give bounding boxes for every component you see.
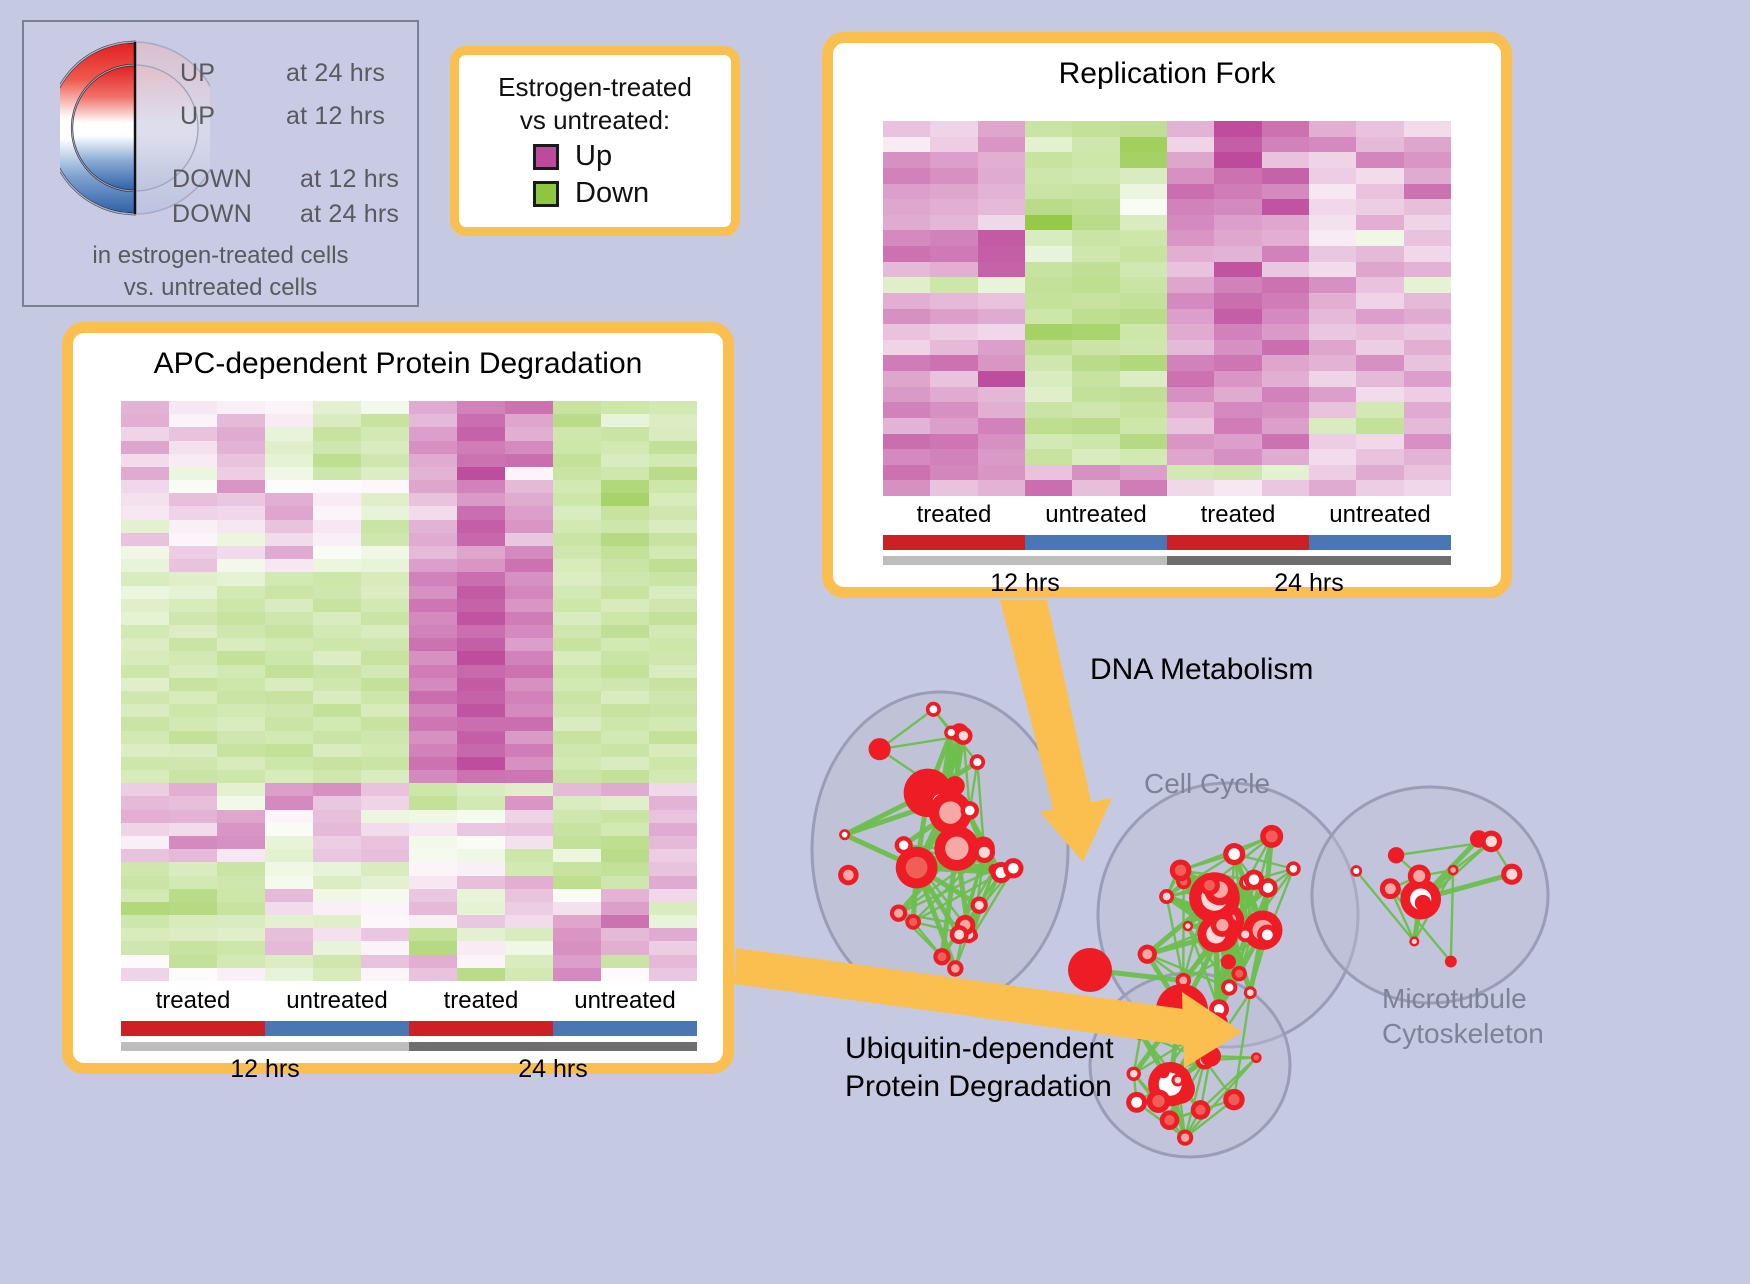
- heatmap-cell: [1262, 168, 1309, 184]
- heatmap-cell: [1167, 418, 1214, 434]
- heatmap-cell: [265, 651, 313, 664]
- heatmap-cell: [1214, 277, 1261, 293]
- network-node[interactable]: [971, 897, 988, 914]
- heatmap-cell: [217, 836, 265, 849]
- network-node[interactable]: [1244, 986, 1257, 999]
- network-node[interactable]: [1260, 825, 1283, 848]
- heatmap-cell: [361, 625, 409, 638]
- heatmap-cell: [265, 941, 313, 954]
- network-node[interactable]: [1068, 948, 1112, 992]
- heatmap-cell: [265, 480, 313, 493]
- heatmap-cell: [649, 717, 697, 730]
- heatmap-cell: [930, 324, 977, 340]
- heatmap-cell: [1120, 277, 1167, 293]
- heatmap-cell: [930, 465, 977, 481]
- heatmap-cell: [1167, 449, 1214, 465]
- heatmap-cell: [265, 454, 313, 467]
- heatmap-cell: [978, 309, 1025, 325]
- heatmap-cell: [1356, 418, 1403, 434]
- heatmap-cell: [409, 612, 457, 625]
- heatmap-cell: [553, 506, 601, 519]
- heatmap-cell: [361, 467, 409, 480]
- heatmap-cell: [1404, 418, 1451, 434]
- heatmap-cell: [505, 467, 553, 480]
- heatmap-cell: [1072, 215, 1119, 231]
- heatmap-cell: [169, 480, 217, 493]
- heatmap-cell: [930, 262, 977, 278]
- heatmap-cell: [1167, 137, 1214, 153]
- heatmap-cell: [361, 744, 409, 757]
- heatmap-cell: [1404, 402, 1451, 418]
- network-node[interactable]: [838, 865, 859, 886]
- heatmap-cell: [409, 665, 457, 678]
- heatmap-cell: [217, 862, 265, 875]
- heatmap-cell: [121, 638, 169, 651]
- heatmap-cell: [505, 823, 553, 836]
- heatmap-cell: [1356, 465, 1403, 481]
- heatmap-cell: [217, 941, 265, 954]
- heatmap-cell: [505, 770, 553, 783]
- heatmap-cell: [601, 533, 649, 546]
- heatmap-cell: [217, 955, 265, 968]
- heatmap-cell: [978, 277, 1025, 293]
- heatmap-cell: [361, 638, 409, 651]
- heatmap-cell: [978, 355, 1025, 371]
- heatmap-cell: [217, 520, 265, 533]
- heatmap-cell: [121, 691, 169, 704]
- heatmap-cell: [313, 546, 361, 559]
- network-node[interactable]: [1244, 870, 1264, 890]
- heatmap-cell: [361, 612, 409, 625]
- heatmap-cell: [553, 625, 601, 638]
- heatmap-cell: [1072, 277, 1119, 293]
- network-node[interactable]: [905, 914, 921, 930]
- heatmap-cell: [553, 427, 601, 440]
- heatmap-cell: [505, 427, 553, 440]
- network-node[interactable]: [1003, 858, 1023, 878]
- heatmap-cell: [361, 796, 409, 809]
- heatmap-cell: [313, 625, 361, 638]
- heatmap-cell: [1167, 215, 1214, 231]
- network-node[interactable]: [1409, 936, 1419, 946]
- heatmap-cell: [601, 625, 649, 638]
- heatmap-cell: [265, 968, 313, 981]
- ring-time-up-12: at 12 hrs: [286, 102, 385, 131]
- heatmap-cell: [553, 665, 601, 678]
- heatmap-cell: [1309, 168, 1356, 184]
- heatmap-cell: [1120, 355, 1167, 371]
- network-node[interactable]: [1200, 1046, 1221, 1067]
- network-node[interactable]: [950, 925, 969, 944]
- heatmap-cell: [169, 493, 217, 506]
- treatment-bar-segment: [121, 1021, 265, 1036]
- heatmap-cell: [505, 876, 553, 889]
- network-node[interactable]: [839, 829, 850, 840]
- heatmap-cell: [930, 449, 977, 465]
- heatmap-cell: [409, 796, 457, 809]
- network-node[interactable]: [1448, 865, 1459, 876]
- heatmap-cell: [1309, 434, 1356, 450]
- heatmap-cell: [121, 506, 169, 519]
- heatmap-cell: [409, 731, 457, 744]
- heatmap-cell: [649, 480, 697, 493]
- heatmap-cell: [265, 810, 313, 823]
- network-node[interactable]: [1126, 1092, 1147, 1113]
- heatmap-cell: [409, 520, 457, 533]
- heatmap-cell: [265, 638, 313, 651]
- heatmap-cell: [883, 230, 930, 246]
- heatmap-cell: [1072, 418, 1119, 434]
- heatmap-cell: [553, 717, 601, 730]
- heatmap-cell: [553, 796, 601, 809]
- heatmap-cell: [505, 955, 553, 968]
- heatmap-cell: [649, 612, 697, 625]
- treatment-color-bar-apc: [121, 1021, 697, 1036]
- heatmap-cell: [1167, 387, 1214, 403]
- network-node[interactable]: [1171, 1074, 1184, 1087]
- heatmap-cell: [409, 836, 457, 849]
- heatmap-cell: [361, 717, 409, 730]
- network-node[interactable]: [1480, 831, 1502, 853]
- up-color-swatch: [533, 144, 559, 170]
- heatmap-cell: [217, 546, 265, 559]
- heatmap-cell: [1167, 340, 1214, 356]
- heatmap-cell: [1120, 418, 1167, 434]
- heatmap-cell: [457, 533, 505, 546]
- heatmap-cell: [121, 612, 169, 625]
- heatmap-cell: [1262, 387, 1309, 403]
- network-node[interactable]: [1286, 861, 1301, 876]
- heatmap-cell: [601, 968, 649, 981]
- heatmap-cell: [1214, 324, 1261, 340]
- heatmap-cell: [1214, 480, 1261, 496]
- heatmap-cell: [1356, 184, 1403, 200]
- heatmap-cell: [1072, 246, 1119, 262]
- heatmap-cell: [601, 572, 649, 585]
- heatmap-cell: [457, 586, 505, 599]
- heatmap-cell: [1404, 262, 1451, 278]
- heatmap-cell: [409, 599, 457, 612]
- heatmap-cell: [265, 744, 313, 757]
- heatmap-cell: [265, 546, 313, 559]
- network-node[interactable]: [1221, 979, 1237, 995]
- heatmap-cell: [1167, 309, 1214, 325]
- heatmap-cell: [649, 731, 697, 744]
- heatmap-cell: [1072, 324, 1119, 340]
- heatmap-cell: [1025, 137, 1072, 153]
- heatmap-cell: [121, 796, 169, 809]
- heatmap-cell: [1214, 215, 1261, 231]
- heatmap-cell: [553, 599, 601, 612]
- heatmap-cell: [409, 717, 457, 730]
- heatmap-cell: [169, 520, 217, 533]
- heatmap-cell: [169, 533, 217, 546]
- heatmap-cell: [649, 401, 697, 414]
- treatment-bar-segment: [1309, 535, 1451, 550]
- heatmap-cell: [553, 928, 601, 941]
- heatmap-cell: [169, 836, 217, 849]
- heatmap-cell: [1309, 293, 1356, 309]
- network-node[interactable]: [1147, 1089, 1171, 1113]
- heatmap-cell: [553, 678, 601, 691]
- heatmap-cell: [601, 599, 649, 612]
- ring-footer-line2: vs. untreated cells: [24, 272, 417, 304]
- heatmap-cell: [883, 199, 930, 215]
- heatmap-cell: [121, 559, 169, 572]
- network-node[interactable]: [945, 776, 965, 796]
- heatmap-cell: [313, 955, 361, 968]
- heatmap-cell: [169, 678, 217, 691]
- heatmap-cell: [1356, 230, 1403, 246]
- network-node[interactable]: [1251, 1052, 1262, 1063]
- heatmap-cell: [978, 293, 1025, 309]
- heatmap-cell: [505, 414, 553, 427]
- network-node[interactable]: [960, 801, 979, 820]
- heatmap-cell: [930, 402, 977, 418]
- ring-time-up-24: at 24 hrs: [286, 59, 385, 88]
- heatmap-cell: [1025, 152, 1072, 168]
- heatmap-replication-fork: [883, 121, 1451, 496]
- heatmap-cell: [1120, 199, 1167, 215]
- network-node[interactable]: [890, 904, 907, 921]
- heatmap-cell: [1025, 434, 1072, 450]
- heatmap-cell: [265, 572, 313, 585]
- heatmap-cell: [649, 704, 697, 717]
- heatmap-cell: [457, 612, 505, 625]
- heatmap-cell: [1167, 262, 1214, 278]
- network-node[interactable]: [1350, 865, 1362, 877]
- heatmap-cell: [1262, 277, 1309, 293]
- heatmap-cell: [883, 402, 930, 418]
- heatmap-cell: [1072, 480, 1119, 496]
- network-node[interactable]: [1206, 1012, 1228, 1034]
- network-node[interactable]: [1221, 954, 1236, 969]
- heatmap-cell: [1072, 184, 1119, 200]
- heatmap-cell: [1262, 402, 1309, 418]
- heatmap-cell: [601, 480, 649, 493]
- network-node[interactable]: [947, 960, 963, 976]
- heatmap-cell: [601, 401, 649, 414]
- network-node[interactable]: [1127, 1067, 1141, 1081]
- heatmap-cell: [505, 968, 553, 981]
- heatmap-cell: [169, 638, 217, 651]
- heatmap-cell: [409, 441, 457, 454]
- heatmap-cell: [1404, 199, 1451, 215]
- heatmap-cell: [265, 401, 313, 414]
- heatmap-cell: [409, 493, 457, 506]
- heatmap-cell: [1167, 355, 1214, 371]
- heatmap-cell: [1214, 230, 1261, 246]
- heatmap-cell: [457, 493, 505, 506]
- heatmap-cell: [265, 612, 313, 625]
- heatmap-cell: [1025, 199, 1072, 215]
- heatmap-cell: [930, 152, 977, 168]
- heatmap-cell: [601, 704, 649, 717]
- heatmap-cell: [217, 678, 265, 691]
- network-node[interactable]: [1158, 1067, 1169, 1078]
- network-node[interactable]: [926, 702, 941, 717]
- network-node[interactable]: [1257, 925, 1278, 946]
- heatmap-cell: [121, 493, 169, 506]
- heatmap-cell: [1025, 246, 1072, 262]
- heatmap-cell: [1262, 121, 1309, 137]
- heatmap-cell: [409, 480, 457, 493]
- heatmap-cell: [553, 414, 601, 427]
- heatmap-cell: [1025, 168, 1072, 184]
- network-node[interactable]: [1388, 847, 1404, 863]
- heatmap-cell: [930, 355, 977, 371]
- heatmap-cell: [457, 836, 505, 849]
- network-node[interactable]: [895, 836, 913, 854]
- network-node[interactable]: [1177, 1130, 1193, 1146]
- heatmap-cell: [1025, 402, 1072, 418]
- heatmap-cell: [313, 572, 361, 585]
- heatmap-cell: [169, 704, 217, 717]
- heatmap-cell: [978, 246, 1025, 262]
- network-node[interactable]: [1223, 843, 1245, 865]
- heatmap-cell: [361, 678, 409, 691]
- heatmap-cell: [553, 520, 601, 533]
- heatmap-cell: [457, 889, 505, 902]
- heatmap-cell: [978, 230, 1025, 246]
- heatmap-cell: [1309, 121, 1356, 137]
- network-node[interactable]: [1183, 921, 1193, 931]
- heatmap-cell: [601, 546, 649, 559]
- heatmap-cell: [1356, 246, 1403, 262]
- heatmap-cell: [1309, 371, 1356, 387]
- heatmap-cell: [601, 665, 649, 678]
- heatmap-cell: [265, 849, 313, 862]
- heatmap-cell: [505, 599, 553, 612]
- heatmap-cell: [313, 783, 361, 796]
- heatmap-cell: [553, 533, 601, 546]
- network-node[interactable]: [1191, 1100, 1211, 1120]
- heatmap-cell: [313, 559, 361, 572]
- heatmap-cell: [121, 731, 169, 744]
- heatmap-cell: [361, 849, 409, 862]
- heatmap-cell: [121, 744, 169, 757]
- time-color-bar-apc: [121, 1042, 697, 1051]
- network-node[interactable]: [1170, 859, 1192, 881]
- heatmap-cell: [1262, 230, 1309, 246]
- updown-legend-box: Estrogen-treated vs untreated: Up Down: [450, 46, 740, 236]
- heatmap-cell: [553, 783, 601, 796]
- heatmap-cell: [169, 915, 217, 928]
- heatmap-cell: [1120, 262, 1167, 278]
- heatmap-cell: [505, 757, 553, 770]
- heatmap-cell: [217, 599, 265, 612]
- time-group-label: 24 hrs: [1167, 569, 1451, 598]
- network-node[interactable]: [1138, 945, 1157, 964]
- heatmap-cell: [601, 862, 649, 875]
- heatmap-cell: [1404, 355, 1451, 371]
- network-node[interactable]: [1237, 927, 1252, 942]
- heatmap-cell: [930, 230, 977, 246]
- heatmap-cell: [649, 823, 697, 836]
- heatmap-cell: [601, 586, 649, 599]
- heatmap-cell: [1167, 434, 1214, 450]
- network-node[interactable]: [1199, 875, 1220, 896]
- heatmap-cell: [361, 480, 409, 493]
- heatmap-cell: [121, 955, 169, 968]
- ring-label-down-12: DOWN: [172, 165, 252, 194]
- heatmap-cell: [1214, 246, 1261, 262]
- heatmap-cell: [1025, 387, 1072, 403]
- heatmap-cell: [1404, 246, 1451, 262]
- heatmap-cell: [1262, 199, 1309, 215]
- heatmap-cell: [1309, 137, 1356, 153]
- heatmap-cell: [409, 678, 457, 691]
- heatmap-cell: [121, 572, 169, 585]
- network-node[interactable]: [1159, 889, 1174, 904]
- heatmap-cell: [313, 968, 361, 981]
- heatmap-cell: [978, 402, 1025, 418]
- column-group-label: untreated: [1025, 501, 1167, 529]
- legend-item-up: Up: [533, 140, 731, 173]
- network-node[interactable]: [1501, 864, 1522, 885]
- network-node[interactable]: [1445, 956, 1457, 968]
- heatmap-cell: [1214, 418, 1261, 434]
- network-node[interactable]: [1415, 895, 1431, 911]
- heatmap-cell: [457, 862, 505, 875]
- column-group-labels-replication-fork: treateduntreatedtreateduntreated: [883, 501, 1451, 529]
- heatmap-cell: [361, 454, 409, 467]
- heatmap-cell: [409, 546, 457, 559]
- heatmap-cell: [409, 941, 457, 954]
- heatmap-cell: [409, 876, 457, 889]
- heatmap-cell: [1214, 434, 1261, 450]
- heatmap-cell: [313, 520, 361, 533]
- heatmap-cell: [649, 902, 697, 915]
- heatmap-cell: [1309, 184, 1356, 200]
- heatmap-cell: [649, 783, 697, 796]
- network-node[interactable]: [1231, 966, 1247, 982]
- heatmap-cell: [361, 586, 409, 599]
- heatmap-cell: [169, 968, 217, 981]
- network-node[interactable]: [933, 948, 950, 965]
- network-node[interactable]: [1160, 1110, 1180, 1130]
- ring-legend-box: UP at 24 hrs UP at 12 hrs DOWN at 12 hrs…: [22, 20, 419, 307]
- heatmap-cell: [217, 757, 265, 770]
- network-node[interactable]: [1408, 865, 1431, 888]
- heatmap-cell: [217, 849, 265, 862]
- heatmap-cell: [1309, 152, 1356, 168]
- network-node[interactable]: [1156, 984, 1208, 1036]
- heatmap-cell: [883, 137, 930, 153]
- network-node[interactable]: [869, 738, 891, 760]
- heatmap-cell: [649, 572, 697, 585]
- heatmap-cell: [1309, 277, 1356, 293]
- network-node[interactable]: [1380, 878, 1401, 899]
- network-node[interactable]: [944, 726, 958, 740]
- network-node[interactable]: [974, 842, 996, 864]
- heatmap-cell: [457, 691, 505, 704]
- heatmap-cell: [1356, 293, 1403, 309]
- heatmap-cell: [457, 968, 505, 981]
- network-node[interactable]: [1223, 1089, 1245, 1111]
- network-node[interactable]: [1134, 1026, 1148, 1040]
- heatmap-cell: [553, 849, 601, 862]
- heatmap-cell: [505, 862, 553, 875]
- heatmap-cell: [457, 467, 505, 480]
- network-node[interactable]: [1211, 913, 1234, 936]
- heatmap-cell: [505, 717, 553, 730]
- heatmap-cell: [265, 731, 313, 744]
- heatmap-cell: [169, 572, 217, 585]
- heatmap-cell: [121, 862, 169, 875]
- network-node[interactable]: [970, 754, 986, 770]
- heatmap-cell: [649, 849, 697, 862]
